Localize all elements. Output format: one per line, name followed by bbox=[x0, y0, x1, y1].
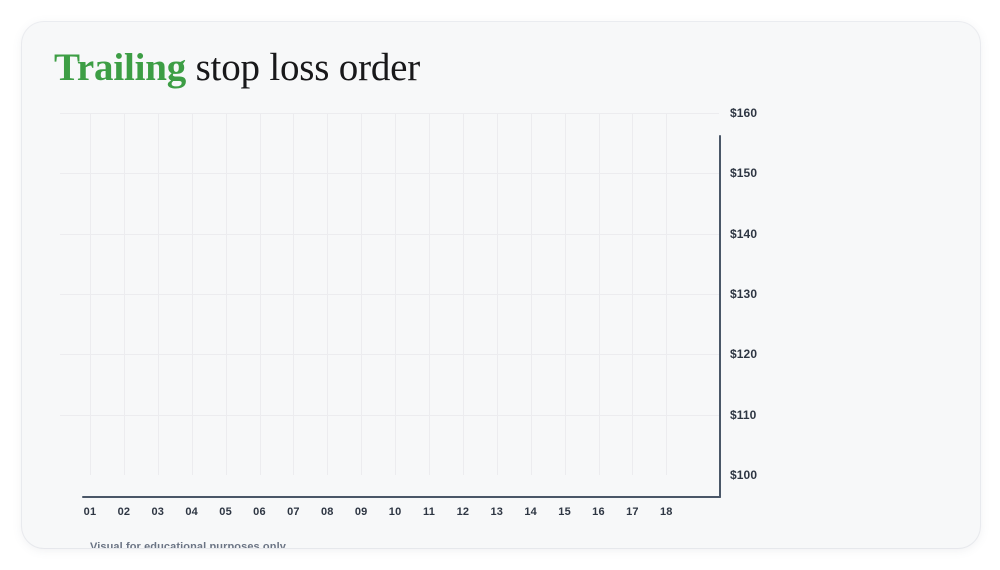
gridline-horizontal bbox=[60, 415, 719, 416]
x-axis-tick-label: 14 bbox=[519, 506, 543, 518]
x-axis-tick-label: 10 bbox=[383, 506, 407, 518]
x-axis-tick-label: 06 bbox=[248, 506, 272, 518]
gridline-vertical bbox=[158, 113, 159, 475]
gridline-horizontal bbox=[60, 234, 719, 235]
x-axis-tick-label: 13 bbox=[485, 506, 509, 518]
gridline-horizontal bbox=[60, 294, 719, 295]
gridline-horizontal bbox=[60, 113, 719, 114]
chart-x-axis-line bbox=[82, 496, 721, 498]
x-axis-tick-label: 16 bbox=[587, 506, 611, 518]
x-axis-tick-label: 11 bbox=[417, 506, 441, 518]
x-axis-tick-label: 17 bbox=[620, 506, 644, 518]
x-axis-tick-label: 18 bbox=[654, 506, 678, 518]
page-title: Trailing stop loss order bbox=[54, 44, 420, 92]
screenshot-canvas: Trailing stop loss order $100$110$120$13… bbox=[0, 0, 1000, 570]
gridline-vertical bbox=[327, 113, 328, 475]
x-axis-tick-label: 05 bbox=[214, 506, 238, 518]
page-title-rest: stop loss order bbox=[186, 46, 420, 89]
gridline-vertical bbox=[192, 113, 193, 475]
chart-plot-area bbox=[60, 113, 719, 475]
gridline-vertical bbox=[90, 113, 91, 475]
gridline-vertical bbox=[497, 113, 498, 475]
x-axis-tick-label: 04 bbox=[180, 506, 204, 518]
page-title-accent: Trailing bbox=[54, 46, 186, 89]
y-axis-tick-label: $120 bbox=[730, 348, 757, 360]
gridline-vertical bbox=[124, 113, 125, 475]
gridline-vertical bbox=[395, 113, 396, 475]
gridline-vertical bbox=[565, 113, 566, 475]
gridline-vertical bbox=[429, 113, 430, 475]
gridline-vertical bbox=[632, 113, 633, 475]
y-axis-tick-label: $100 bbox=[730, 469, 757, 481]
chart-card: Trailing stop loss order $100$110$120$13… bbox=[22, 22, 980, 548]
gridline-vertical bbox=[531, 113, 532, 475]
gridline-vertical bbox=[463, 113, 464, 475]
x-axis-tick-label: 09 bbox=[349, 506, 373, 518]
gridline-vertical bbox=[293, 113, 294, 475]
x-axis-tick-label: 03 bbox=[146, 506, 170, 518]
x-axis-tick-label: 15 bbox=[553, 506, 577, 518]
y-axis-tick-label: $150 bbox=[730, 167, 757, 179]
chart-gridlines bbox=[60, 113, 719, 475]
gridline-vertical bbox=[666, 113, 667, 475]
x-axis-tick-label: 02 bbox=[112, 506, 136, 518]
x-axis-tick-label: 07 bbox=[281, 506, 305, 518]
x-axis-tick-label: 08 bbox=[315, 506, 339, 518]
gridline-vertical bbox=[599, 113, 600, 475]
gridline-horizontal bbox=[60, 354, 719, 355]
gridline-horizontal bbox=[60, 173, 719, 174]
y-axis-tick-label: $130 bbox=[730, 288, 757, 300]
chart-footnote: Visual for educational purposes only. bbox=[90, 540, 288, 548]
x-axis-tick-label: 12 bbox=[451, 506, 475, 518]
gridline-vertical bbox=[260, 113, 261, 475]
gridline-vertical bbox=[226, 113, 227, 475]
gridline-vertical bbox=[361, 113, 362, 475]
chart-y-axis-line bbox=[719, 135, 721, 498]
y-axis-tick-label: $140 bbox=[730, 228, 757, 240]
y-axis-tick-label: $110 bbox=[730, 409, 756, 421]
x-axis-tick-label: 01 bbox=[78, 506, 102, 518]
y-axis-tick-label: $160 bbox=[730, 107, 757, 119]
